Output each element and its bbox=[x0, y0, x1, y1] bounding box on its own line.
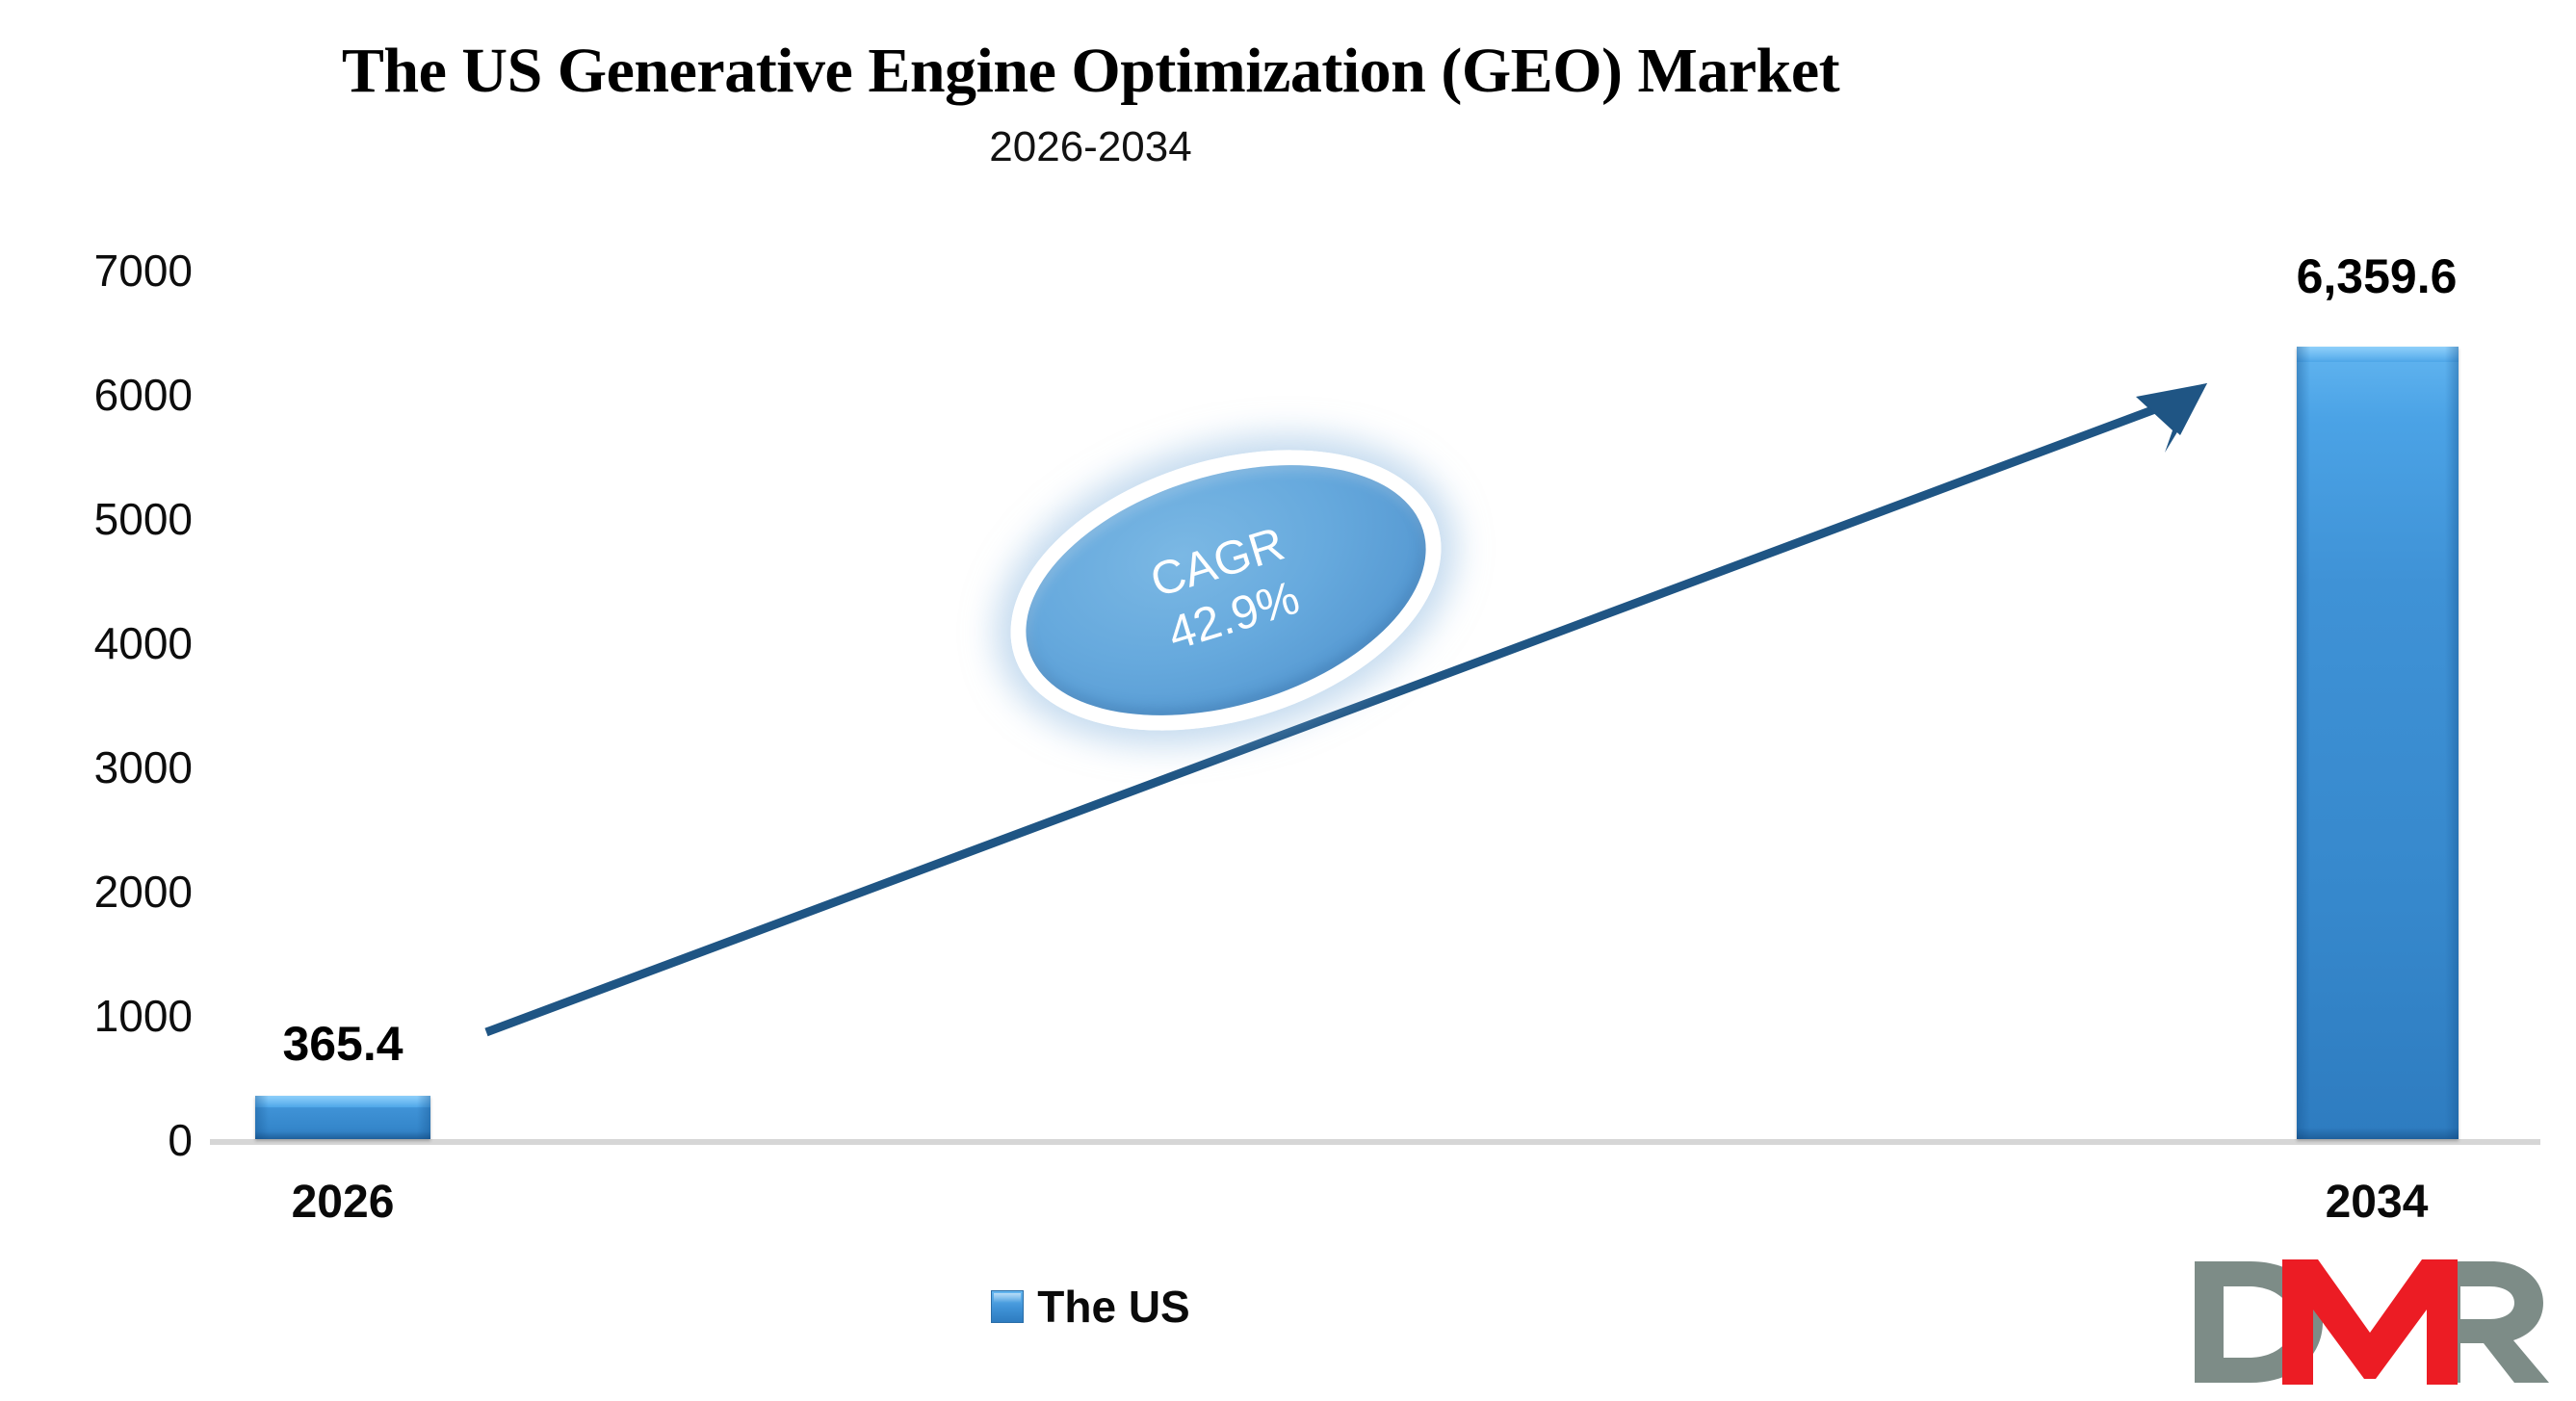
cagr-bubble: CAGR 42.9% bbox=[976, 402, 1476, 780]
bar-bevel-top-icon bbox=[255, 1096, 430, 1107]
logo-letter-m-icon bbox=[2282, 1259, 2458, 1385]
y-tick-0: 0 bbox=[19, 1114, 193, 1166]
y-axis-tick-labels: 7000 6000 5000 4000 3000 2000 1000 0 bbox=[10, 0, 193, 1401]
x-category-label-2034: 2034 bbox=[2326, 1176, 2429, 1229]
bar-2034[interactable] bbox=[2297, 347, 2459, 1139]
y-tick-7000: 7000 bbox=[19, 245, 193, 297]
bar-value-label-2034: 6,359.6 bbox=[2297, 248, 2458, 304]
bar-bevel-bottom-icon bbox=[255, 1131, 430, 1139]
chart-canvas: The US Generative Engine Optimization (G… bbox=[0, 0, 2576, 1401]
x-axis-line bbox=[210, 1139, 2540, 1145]
dmr-logo bbox=[2191, 1250, 2552, 1394]
legend: The US bbox=[0, 1281, 2181, 1333]
x-category-label-2026: 2026 bbox=[292, 1176, 395, 1229]
bar-bevel-right-icon bbox=[2445, 347, 2459, 1139]
y-tick-1000: 1000 bbox=[19, 990, 193, 1042]
legend-label-the-us: The US bbox=[1037, 1281, 1189, 1333]
bar-value-label-2026: 365.4 bbox=[282, 1016, 403, 1072]
plot-area: 7000 6000 5000 4000 3000 2000 1000 0 365… bbox=[0, 0, 2576, 1401]
y-tick-3000: 3000 bbox=[19, 741, 193, 793]
bar-bevel-top-icon bbox=[2297, 347, 2459, 362]
y-tick-4000: 4000 bbox=[19, 617, 193, 669]
y-tick-5000: 5000 bbox=[19, 493, 193, 545]
bar-bevel-bottom-icon bbox=[2297, 1128, 2459, 1139]
y-tick-2000: 2000 bbox=[19, 866, 193, 918]
y-tick-6000: 6000 bbox=[19, 369, 193, 421]
bar-2026[interactable] bbox=[255, 1096, 430, 1139]
legend-swatch-the-us bbox=[991, 1290, 1024, 1323]
bar-bevel-left-icon bbox=[2297, 347, 2310, 1139]
